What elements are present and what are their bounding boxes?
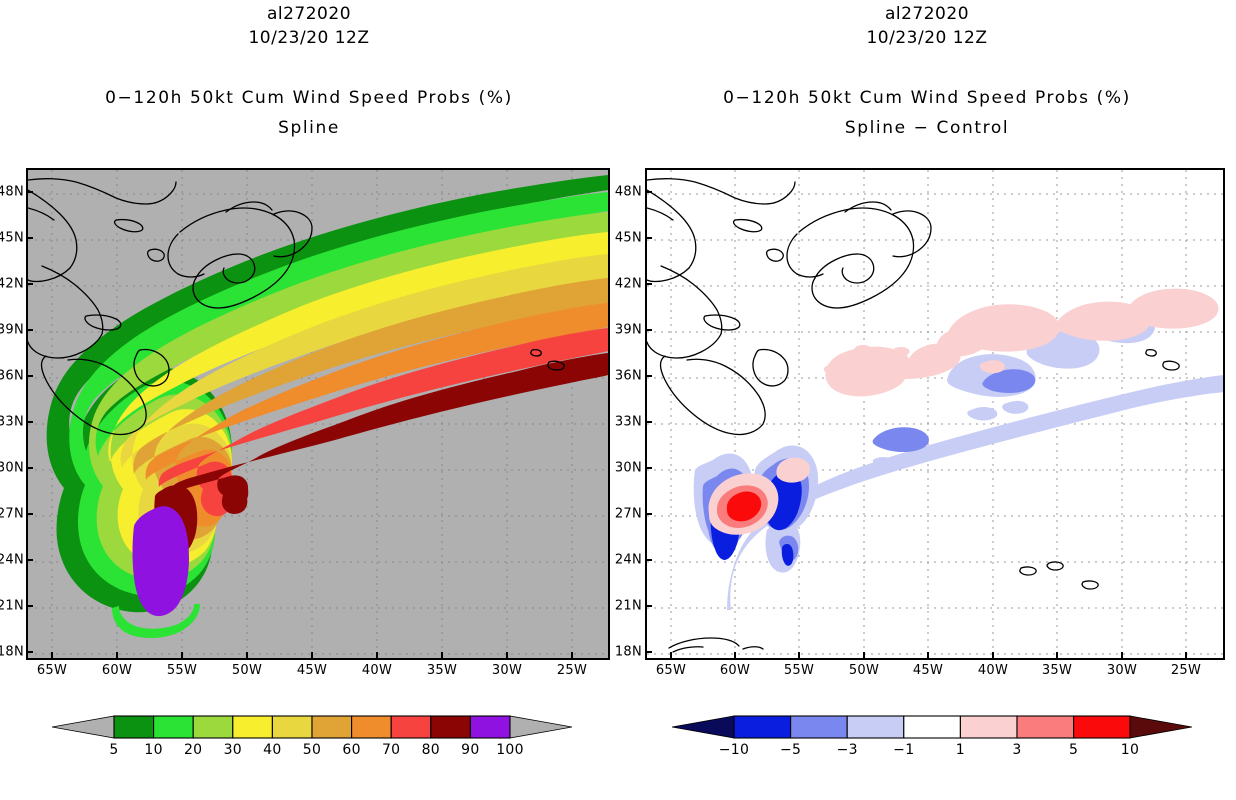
ytick [26,651,33,653]
xtick [670,652,672,659]
right-subtitle: Spline − Control [618,118,1236,138]
ylabel-27N: 27N [0,507,24,522]
ytick [26,237,33,239]
xlabel-35W: 35W [1042,663,1072,678]
ytick [645,421,652,423]
xlabel-60W: 60W [102,663,132,678]
ylabel-27N: 27N [606,507,642,522]
ytick [26,559,33,561]
ytick [26,513,33,515]
map-spline-canvas [28,170,608,658]
xtick [311,652,313,659]
xtick [863,652,865,659]
under-arrow [672,716,734,738]
xtick [571,652,573,659]
xtick [51,652,53,659]
ytick [645,559,652,561]
wind-probability-figure: al272020 10/23/20 12Z 0−120h 50kt Cum Wi… [0,0,1236,800]
ytick [26,375,33,377]
xlabel-25W: 25W [1171,663,1201,678]
xlabel-65W: 65W [656,663,686,678]
xlabel-40W: 40W [978,663,1008,678]
map-spline-minus-control[interactable] [645,168,1225,660]
ytick [645,375,652,377]
map-diff-canvas [647,170,1223,658]
xlabel-35W: 35W [427,663,457,678]
ylabel-30N: 30N [0,461,24,476]
xtick [1056,652,1058,659]
left-storm-id: al272020 [0,4,618,24]
xtick [798,652,800,659]
ytick [26,283,33,285]
xtick [927,652,929,659]
ylabel-39N: 39N [0,323,24,338]
xtick [992,652,994,659]
probability-colorbar[interactable]: 5 10 20 30 40 50 60 70 80 90 100 [52,712,572,782]
map-spline[interactable] [26,168,610,660]
xtick [1121,652,1123,659]
ocean-background [647,170,1223,658]
ylabel-36N: 36N [606,369,642,384]
ytick [26,191,33,193]
xtick [246,652,248,659]
xtick [506,652,508,659]
xlabel-55W: 55W [167,663,197,678]
ylabel-48N: 48N [0,185,24,200]
ylabel-42N: 42N [0,277,24,292]
right-title: 0−120h 50kt Cum Wind Speed Probs (%) [618,88,1236,108]
ytick [645,605,652,607]
ytick [645,651,652,653]
right-date: 10/23/20 12Z [618,28,1236,48]
under-arrow [52,716,114,738]
xlabel-55W: 55W [784,663,814,678]
xlabel-40W: 40W [362,663,392,678]
ytick [645,191,652,193]
over-arrow [510,716,572,738]
ylabel-33N: 33N [606,415,642,430]
xtick [181,652,183,659]
ylabel-21N: 21N [0,599,24,614]
xtick [734,652,736,659]
ytick [26,329,33,331]
ylabel-24N: 24N [0,553,24,568]
panel-spline: al272020 10/23/20 12Z 0−120h 50kt Cum Wi… [0,0,618,800]
ylabel-18N: 18N [0,645,24,660]
xtick [441,652,443,659]
xtick [1185,652,1187,659]
contour-band-100 [133,506,190,616]
anomaly-colorbar-swatches [672,712,1192,746]
ytick [645,467,652,469]
ylabel-30N: 30N [606,461,642,476]
anomaly-colorbar[interactable]: −10 −5 −3 −1 1 3 5 10 [672,712,1192,782]
left-subtitle: Spline [0,118,618,138]
xlabel-65W: 65W [37,663,67,678]
xtick [376,652,378,659]
xlabel-30W: 30W [1107,663,1137,678]
xlabel-25W: 25W [557,663,587,678]
ytick [645,283,652,285]
panel-spline-minus-control: al272020 10/23/20 12Z 0−120h 50kt Cum Wi… [618,0,1236,800]
probability-colorbar-swatches [52,712,572,746]
xlabel-30W: 30W [492,663,522,678]
left-date: 10/23/20 12Z [0,28,618,48]
xlabel-60W: 60W [720,663,750,678]
ylabel-33N: 33N [0,415,24,430]
ytick [645,237,652,239]
ylabel-45N: 45N [606,231,642,246]
xlabel-45W: 45W [913,663,943,678]
ylabel-45N: 45N [0,231,24,246]
ylabel-18N: 18N [606,645,642,660]
ytick [645,329,652,331]
right-storm-id: al272020 [618,4,1236,24]
ytick [26,605,33,607]
ylabel-21N: 21N [606,599,642,614]
ylabel-24N: 24N [606,553,642,568]
xtick [116,652,118,659]
ylabel-39N: 39N [606,323,642,338]
xlabel-50W: 50W [849,663,879,678]
left-title: 0−120h 50kt Cum Wind Speed Probs (%) [0,88,618,108]
ylabel-36N: 36N [0,369,24,384]
ytick [26,467,33,469]
ytick [26,421,33,423]
xlabel-50W: 50W [232,663,262,678]
ylabel-48N: 48N [606,185,642,200]
ylabel-42N: 42N [606,277,642,292]
xlabel-45W: 45W [297,663,327,678]
ytick [645,513,652,515]
over-arrow [1130,716,1192,738]
